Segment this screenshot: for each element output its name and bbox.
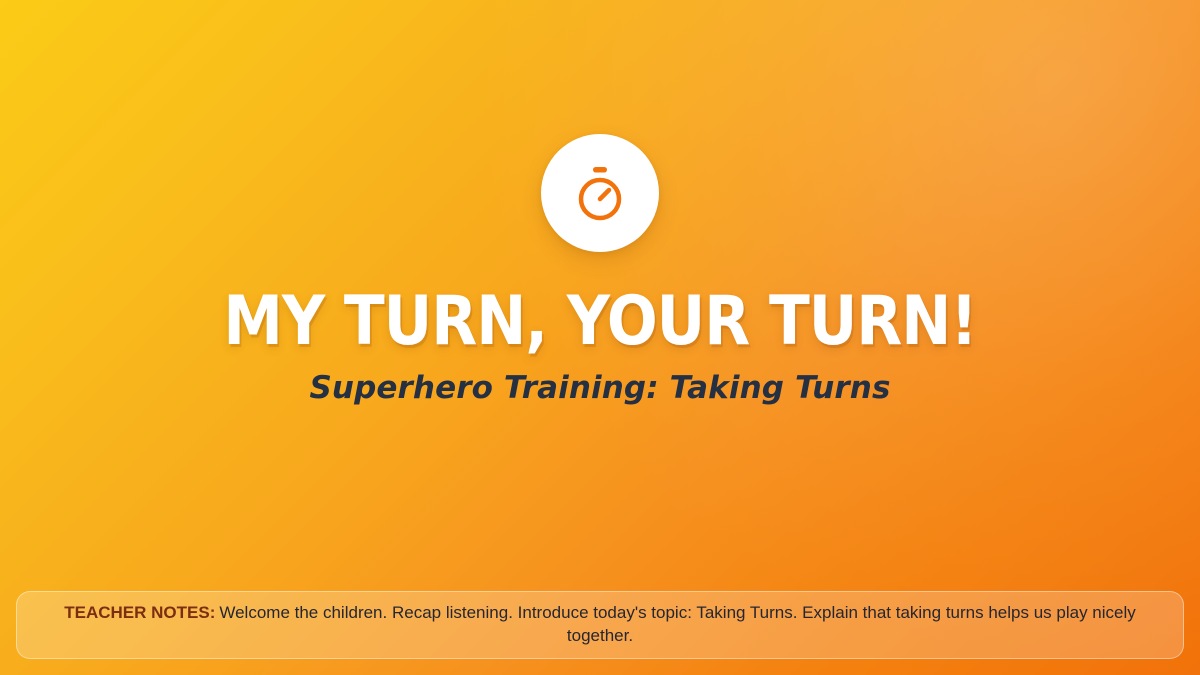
teacher-notes-bar: TEACHER NOTES:Welcome the children. Reca…: [16, 591, 1184, 659]
page-title: MY TURN, YOUR TURN!: [223, 288, 976, 356]
slide-canvas: MY TURN, YOUR TURN! Superhero Training: …: [0, 0, 1200, 675]
slide-center-content: MY TURN, YOUR TURN! Superhero Training: …: [0, 0, 1200, 560]
teacher-notes-label: TEACHER NOTES:: [64, 603, 215, 622]
stopwatch-icon-badge: [541, 134, 659, 252]
stopwatch-icon: [568, 161, 632, 225]
teacher-notes-text: TEACHER NOTES:Welcome the children. Reca…: [39, 602, 1161, 648]
page-subtitle: Superhero Training: Taking Turns: [310, 370, 891, 407]
teacher-notes-body: Welcome the children. Recap listening. I…: [219, 603, 1135, 645]
